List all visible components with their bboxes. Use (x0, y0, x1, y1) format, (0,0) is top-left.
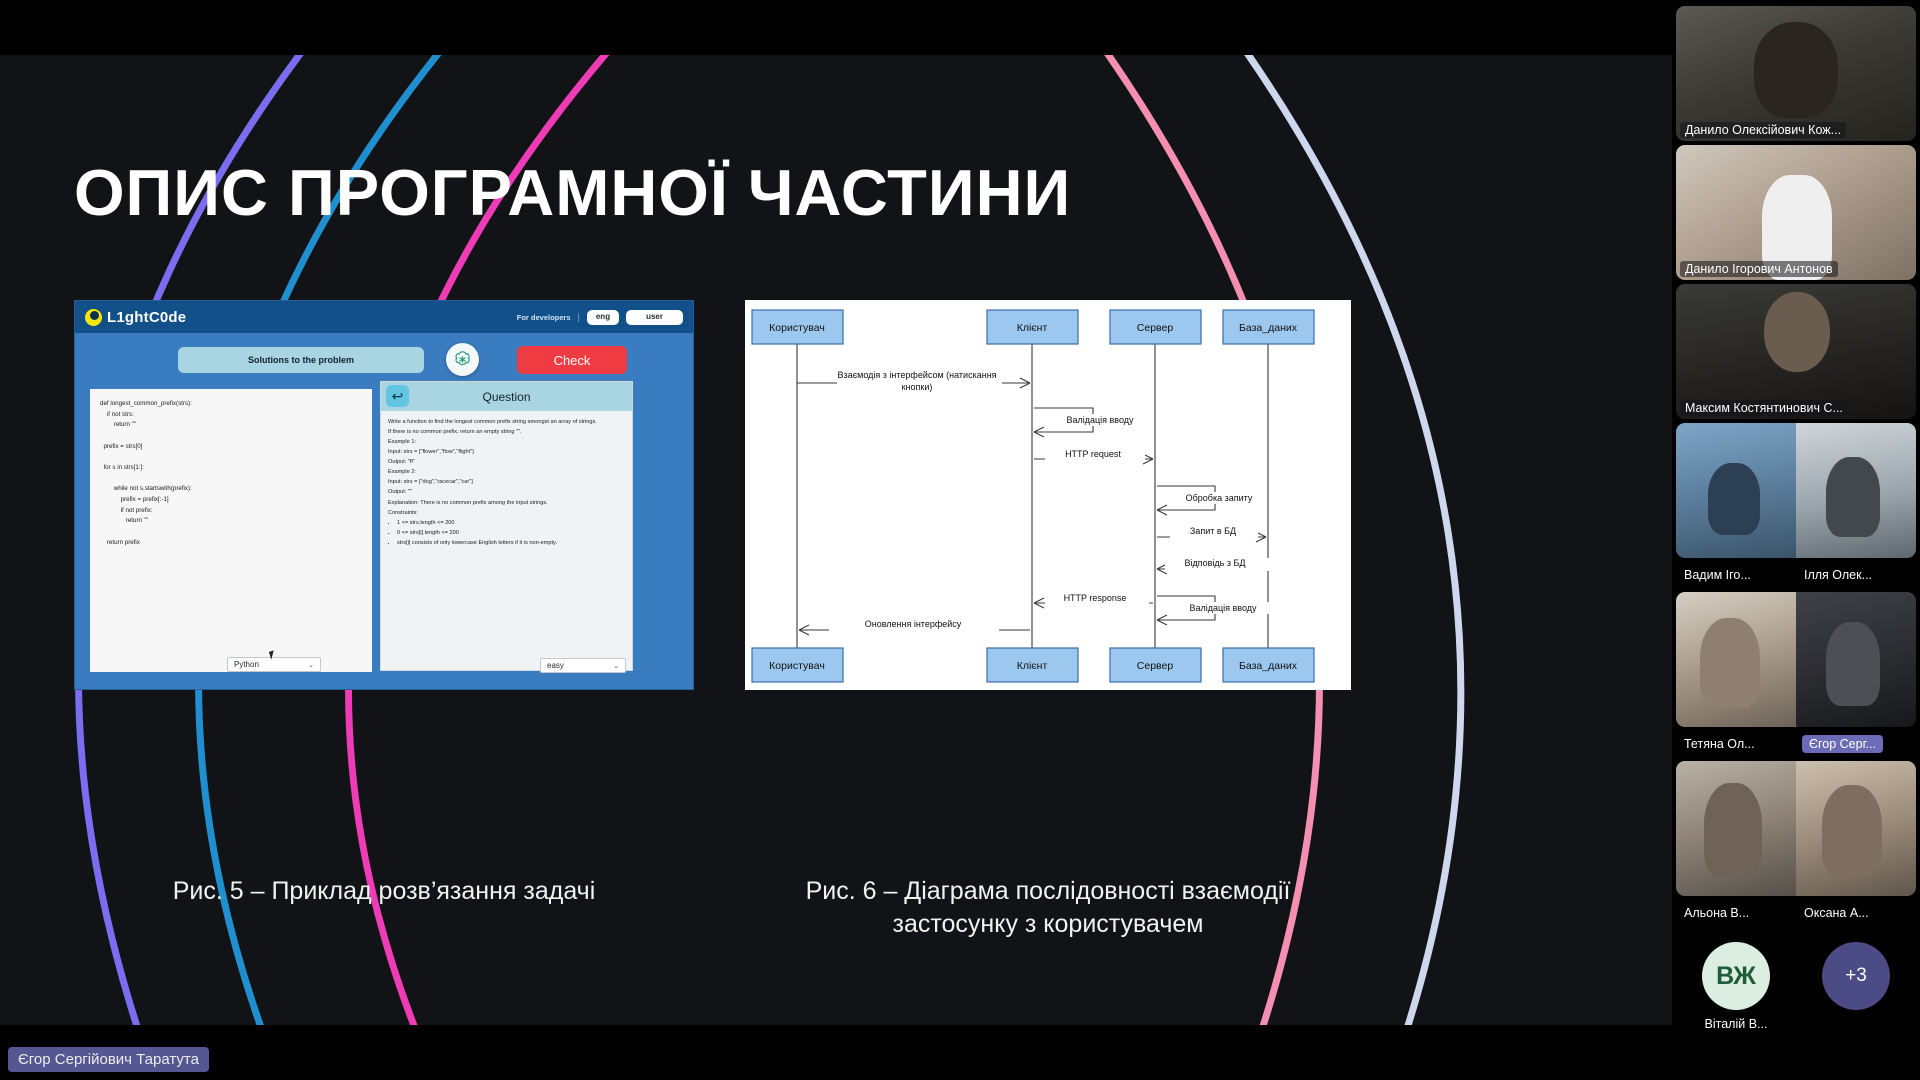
for-developers-link[interactable]: For developers (517, 313, 571, 322)
question-line: If there is no common prefix, return an … (388, 427, 625, 437)
code-text: def longest_common_prefix(strs): if not … (100, 399, 362, 548)
more-participants-badge: +3 (1822, 942, 1890, 1010)
participant-name-row: Вадим Іго... Ілля Олек... (1676, 562, 1916, 588)
participant-name: Оксана А... (1796, 906, 1916, 920)
participant-tile[interactable] (1676, 592, 1796, 727)
question-line: Input: strs = ["dog","racecar","car"] (388, 477, 625, 487)
participant-avatar-tile[interactable]: ВЖ Віталій В... (1702, 942, 1770, 1031)
participant-name: Віталій В... (1705, 1017, 1768, 1031)
svg-text:кнопки): кнопки) (902, 382, 933, 392)
constraint-item: strs[i] consists of only lowercase Engli… (397, 538, 625, 548)
shared-screen-stage: ОПИС ПРОГРАМНОЇ ЧАСТИНИ L1ghtC0de For de… (0, 0, 1672, 1080)
constraint-item: 1 <= strs.length <= 200 (397, 518, 625, 528)
question-panel: ↩ Question Write a function to find the … (380, 381, 633, 671)
svg-text:HTTP response: HTTP response (1064, 593, 1127, 603)
svg-text:Оновлення інтерфейсу: Оновлення інтерфейсу (865, 619, 962, 629)
svg-text:HTTP request: HTTP request (1065, 449, 1121, 459)
language-select-value: Python (234, 660, 259, 669)
presenter-name-badge: Єгор Сергійович Таратута (8, 1047, 209, 1072)
solutions-to-the-problem-tab[interactable]: Solutions to the problem (178, 347, 424, 373)
participant-name: Данило Олексійович Кож... (1680, 122, 1846, 138)
participant-name: Максим Костянтинович С... (1680, 400, 1848, 416)
video-feed (1796, 592, 1916, 727)
question-line: Explanation: There is no common prefix a… (388, 498, 625, 508)
svg-text:База_даних: База_даних (1239, 322, 1298, 334)
figure-6-caption: Рис. 6 – Діаграма послідовності взаємоді… (745, 875, 1351, 942)
svg-text:Користувач: Користувач (769, 660, 825, 672)
svg-text:Обробка запиту: Обробка запиту (1186, 493, 1253, 503)
figure-sequence-diagram: Користувач Клієнт Сервер База_даних Кори… (745, 300, 1351, 690)
video-feed (1796, 423, 1916, 558)
question-line: Input: strs = ["flower","flow","flight"] (388, 447, 625, 457)
svg-text:Сервер: Сервер (1137, 660, 1174, 672)
constraints-list: 1 <= strs.length <= 200 0 <= strs[i].len… (397, 518, 625, 548)
participant-tile-pair[interactable] (1676, 592, 1916, 727)
participant-name: Тетяна Ол... (1676, 737, 1796, 751)
app-topbar: L1ghtC0de For developers | eng user (75, 301, 693, 333)
svg-text:Користувач: Користувач (769, 322, 825, 334)
code-editor[interactable]: def longest_common_prefix(strs): if not … (87, 389, 372, 672)
svg-text:Запит в БД: Запит в БД (1190, 526, 1236, 536)
meeting-screen: ОПИС ПРОГРАМНОЇ ЧАСТИНИ L1ghtC0de For de… (0, 0, 1920, 1080)
svg-text:Клієнт: Клієнт (1017, 660, 1048, 672)
participant-tile[interactable]: Максим Костянтинович С... (1676, 284, 1916, 419)
video-feed (1676, 423, 1796, 558)
app-logo: L1ghtC0de (85, 309, 186, 326)
participant-tile[interactable] (1796, 592, 1916, 727)
page-title: ОПИС ПРОГРАМНОЇ ЧАСТИНИ (74, 155, 1071, 230)
question-body: Write a function to find the longest com… (381, 411, 632, 554)
back-arrow-icon[interactable]: ↩ (386, 385, 409, 407)
participant-tile-pair[interactable] (1676, 423, 1916, 558)
question-line: Example 1: (388, 437, 625, 447)
question-header: ↩ Question (381, 382, 632, 411)
svg-text:Взаємодія з інтерфейсом (натис: Взаємодія з інтерфейсом (натискання (837, 370, 996, 380)
participant-name: Альона В... (1676, 906, 1796, 920)
check-button[interactable]: Check (517, 346, 627, 374)
question-line: Output: "" (388, 487, 625, 497)
chatgpt-icon[interactable] (446, 343, 479, 376)
participant-tile[interactable] (1796, 423, 1916, 558)
participant-tile[interactable] (1676, 761, 1796, 896)
svg-text:Сервер: Сервер (1137, 322, 1174, 334)
participant-name: Данило Ігорович Антонов (1680, 261, 1838, 277)
video-feed (1676, 284, 1916, 419)
figure-app-screenshot: L1ghtC0de For developers | eng user Solu… (74, 300, 694, 690)
video-feed (1676, 761, 1796, 896)
video-feed (1676, 6, 1916, 141)
participant-tile[interactable] (1676, 423, 1796, 558)
svg-text:База_даних: База_даних (1239, 660, 1298, 672)
question-line: Constraints: (388, 508, 625, 518)
topbar-separator: | (578, 312, 580, 322)
chevron-down-icon: ⌄ (613, 662, 619, 670)
presentation-slide: ОПИС ПРОГРАМНОЇ ЧАСТИНИ L1ghtC0de For de… (0, 55, 1672, 1025)
video-feed (1676, 592, 1796, 727)
participant-tile[interactable] (1796, 761, 1916, 896)
language-select[interactable]: Python ⌄ (227, 657, 321, 672)
svg-text:Валідація вводу: Валідація вводу (1066, 415, 1134, 425)
participant-name-row: Альона В... Оксана А... (1676, 900, 1916, 926)
active-speaker-name: Єгор Серг... (1802, 735, 1883, 753)
participant-name: Ілля Олек... (1796, 568, 1916, 582)
question-line: Output: "fl" (388, 457, 625, 467)
figure-5-caption: Рис. 5 – Приклад розв’язання задачі (74, 875, 694, 908)
question-line: Write a function to find the longest com… (388, 417, 625, 427)
more-participants-tile[interactable]: +3 (1822, 942, 1890, 1010)
avatar: ВЖ (1702, 942, 1770, 1010)
app-body: Solutions to the problem Check def longe… (75, 333, 693, 690)
topbar-actions: For developers | eng user (517, 310, 683, 325)
user-menu-button[interactable]: user (626, 310, 683, 325)
video-feed (1676, 145, 1916, 280)
svg-text:Відповідь з БД: Відповідь з БД (1185, 558, 1246, 568)
difficulty-select-value: easy (547, 661, 564, 670)
participant-tile[interactable]: Данило Ігорович Антонов (1676, 145, 1916, 280)
chevron-down-icon: ⌄ (308, 661, 314, 669)
participant-name: Вадим Іго... (1676, 568, 1796, 582)
lightbulb-icon (85, 309, 102, 326)
participant-rail[interactable]: Данило Олексійович Кож... Данило Ігорови… (1672, 0, 1920, 1080)
question-title: Question (381, 390, 632, 404)
constraint-item: 0 <= strs[i].length <= 200 (397, 528, 625, 538)
svg-text:Клієнт: Клієнт (1017, 322, 1048, 334)
video-feed (1796, 761, 1916, 896)
participant-tile-pair[interactable] (1676, 761, 1916, 896)
participant-name-row: Тетяна Ол... Єгор Серг... (1676, 731, 1916, 757)
app-logo-text: L1ghtC0de (107, 309, 186, 326)
participant-tile[interactable]: Данило Олексійович Кож... (1676, 6, 1916, 141)
svg-text:Валідація вводу: Валідація вводу (1189, 603, 1257, 613)
avatar-participants-row[interactable]: ВЖ Віталій В... +3 (1676, 930, 1916, 1080)
language-eng-button[interactable]: eng (587, 310, 619, 325)
question-line: Example 2: (388, 467, 625, 477)
difficulty-select[interactable]: easy ⌄ (540, 658, 626, 673)
